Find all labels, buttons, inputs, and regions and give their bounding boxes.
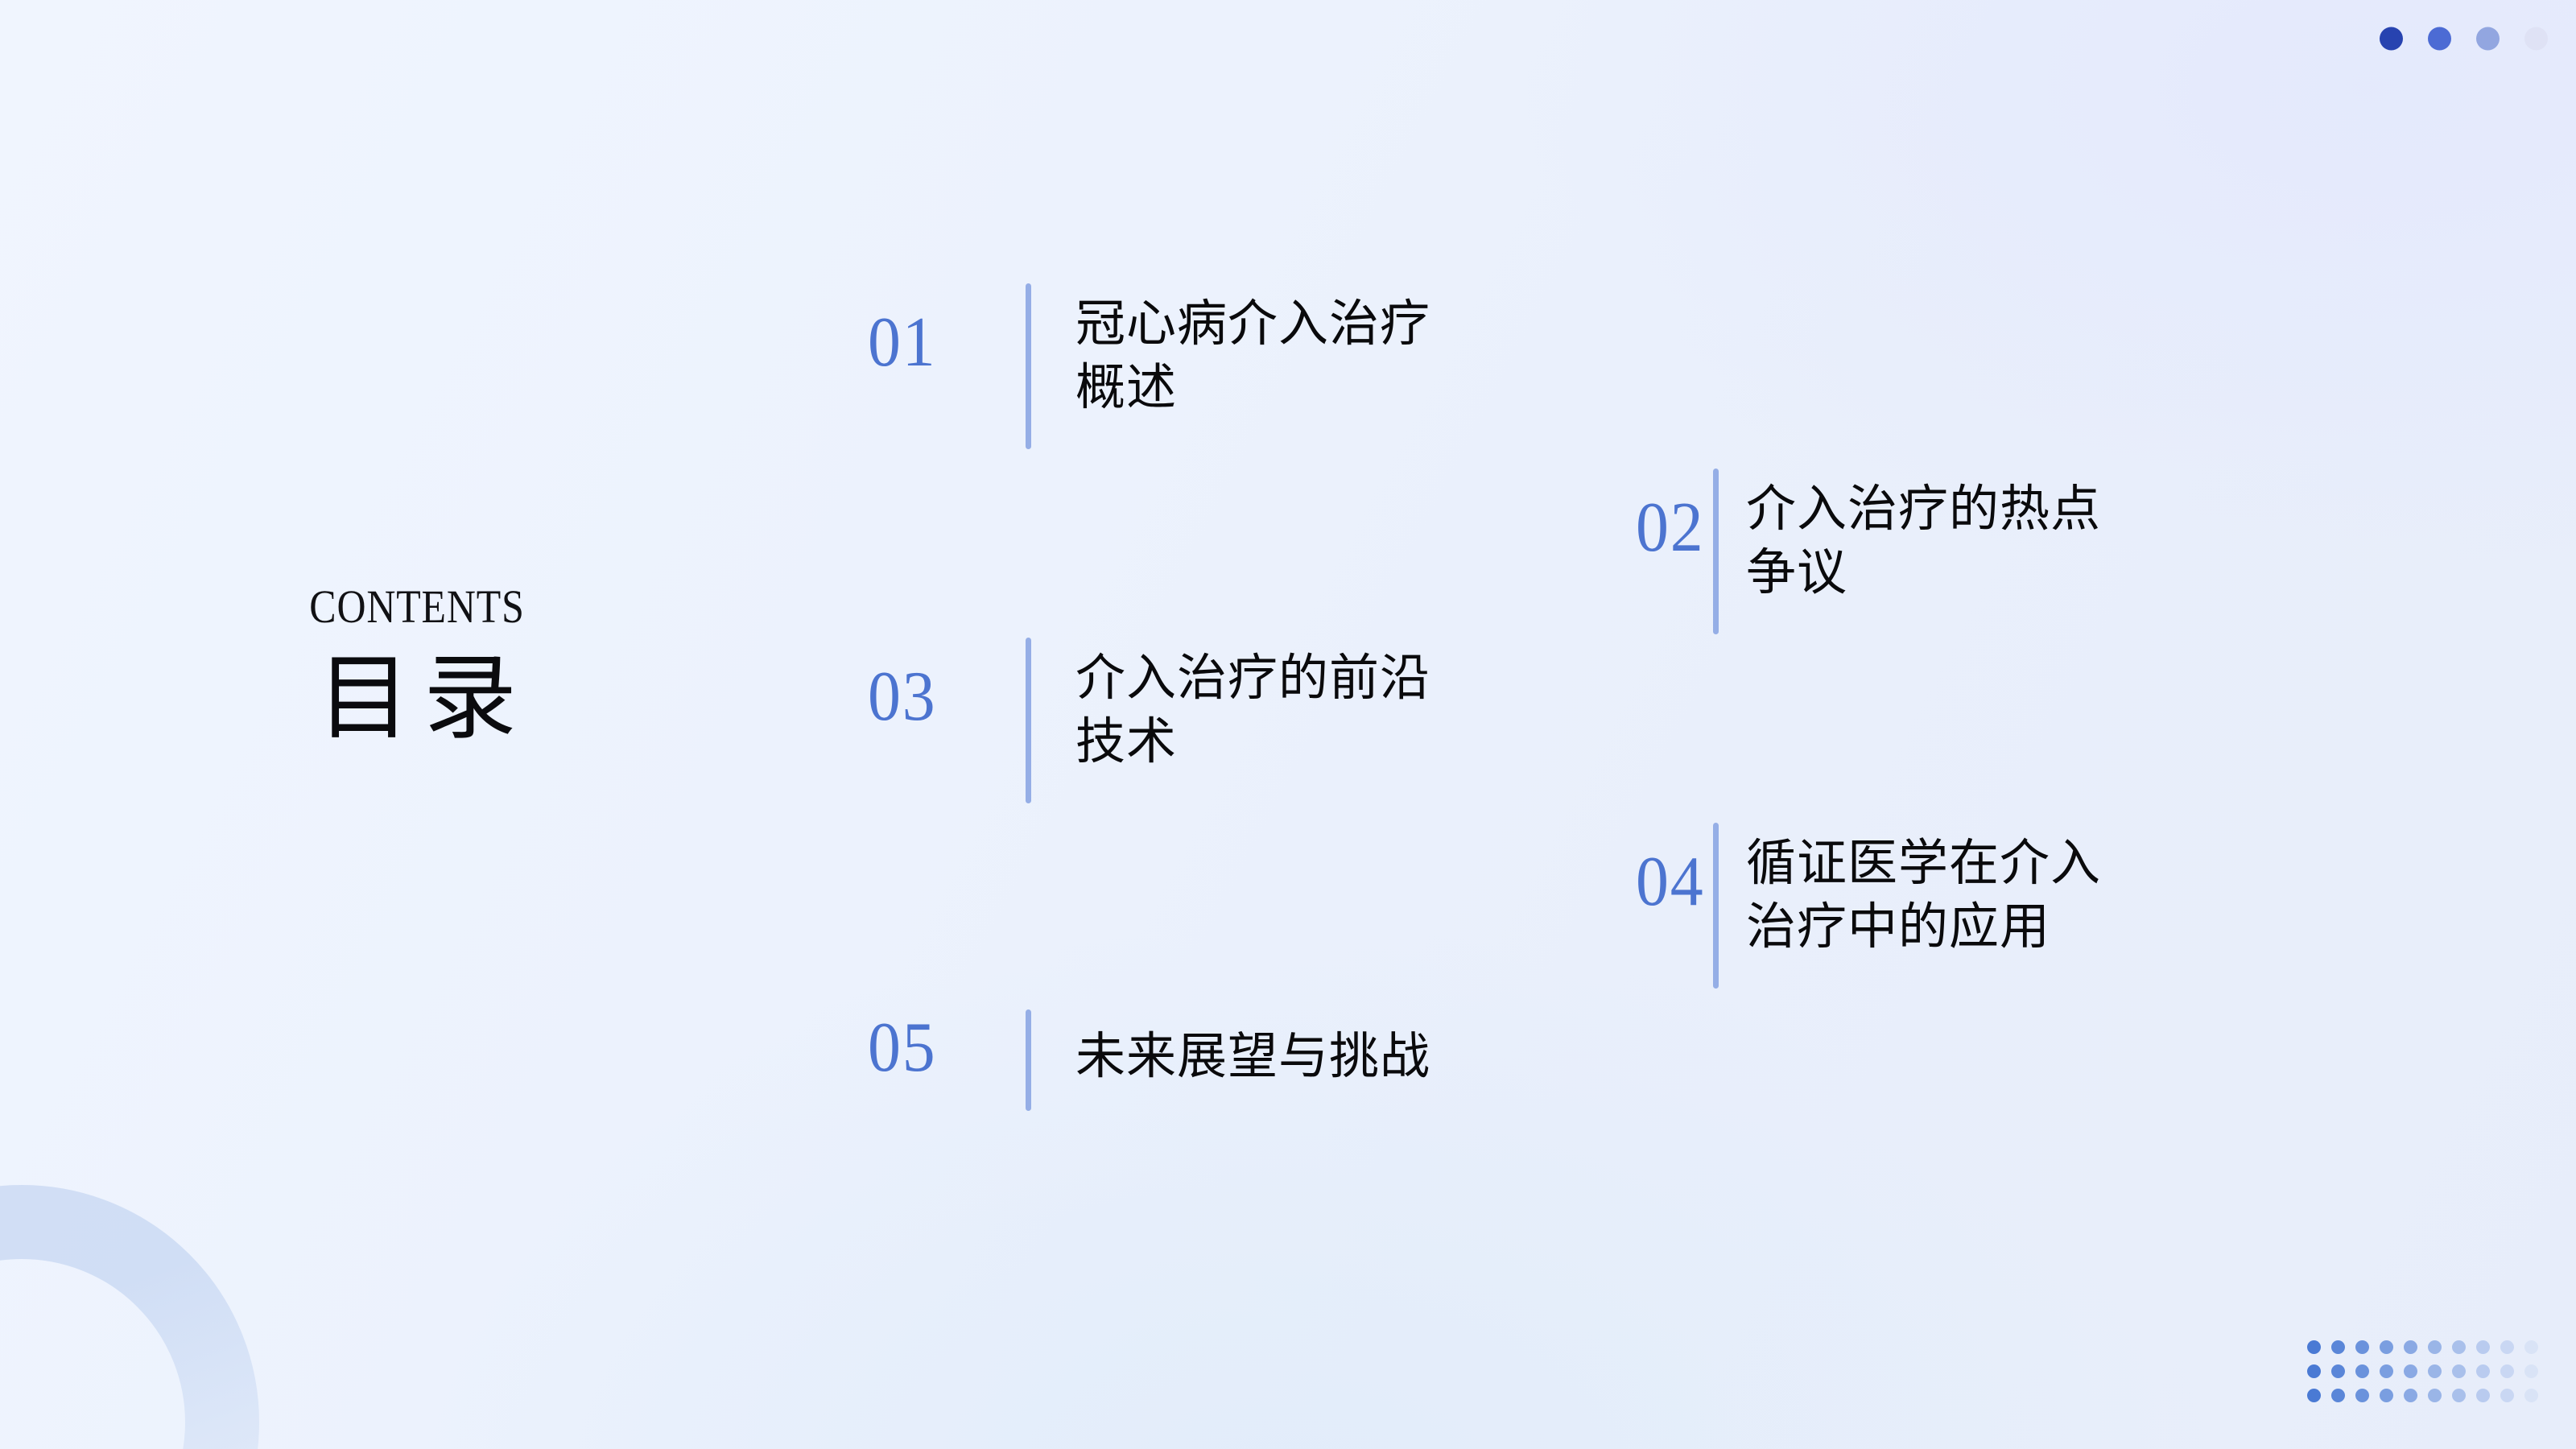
- top-right-dots-decoration: [2380, 27, 2548, 51]
- slide-canvas: CONTENTS 目录 01 冠心病介入治疗 概述 02 介入治疗的热点 争议 …: [0, 0, 2576, 1449]
- grid-dot-icon: [2404, 1340, 2417, 1354]
- grid-dot-icon: [2524, 1340, 2538, 1354]
- toc-item-02[interactable]: 02 介入治疗的热点 争议: [1636, 469, 2101, 634]
- grid-dot-icon: [2307, 1389, 2321, 1402]
- grid-dot-icon: [2452, 1389, 2466, 1402]
- toc-item-01-number: 01: [868, 308, 993, 378]
- toc-item-05-divider: [1026, 1009, 1031, 1111]
- toc-item-03-label: 介入治疗的前沿 技术: [1075, 647, 1430, 775]
- grid-dot-icon: [2380, 1389, 2393, 1402]
- grid-dot-icon: [2428, 1340, 2442, 1354]
- toc-item-02-label: 介入治疗的热点 争议: [1746, 478, 2101, 606]
- toc-item-04-label: 循证医学在介入 治疗中的应用: [1746, 832, 2101, 960]
- corner-ring-decoration: [0, 1185, 259, 1449]
- grid-dot-icon: [2476, 1340, 2490, 1354]
- grid-dot-icon: [2500, 1364, 2514, 1378]
- toc-item-05-label: 未来展望与挑战: [1075, 1026, 1430, 1089]
- grid-dot-icon: [2331, 1340, 2345, 1354]
- grid-dot-icon: [2524, 1364, 2538, 1378]
- toc-item-03-divider: [1026, 638, 1031, 803]
- grid-dot-icon: [2404, 1364, 2417, 1378]
- grid-dot-icon: [2331, 1364, 2345, 1378]
- dot-4-icon: [2524, 27, 2548, 51]
- grid-dot-icon: [2355, 1340, 2369, 1354]
- grid-dot-icon: [2428, 1389, 2442, 1402]
- toc-item-01-label: 冠心病介入治疗 概述: [1075, 293, 1430, 421]
- grid-dot-icon: [2307, 1364, 2321, 1378]
- toc-item-01[interactable]: 01 冠心病介入治疗 概述: [868, 283, 1430, 449]
- grid-dot-icon: [2380, 1340, 2393, 1354]
- toc-item-04-divider: [1713, 823, 1719, 989]
- dot-2-icon: [2428, 27, 2451, 51]
- grid-dot-icon: [2476, 1364, 2490, 1378]
- grid-dot-icon: [2428, 1364, 2442, 1378]
- toc-item-03[interactable]: 03 介入治疗的前沿 技术: [868, 638, 1430, 803]
- toc-item-02-divider: [1713, 469, 1719, 634]
- grid-dot-icon: [2500, 1340, 2514, 1354]
- page-title: CONTENTS 目录: [284, 584, 550, 753]
- dot-1-icon: [2380, 27, 2403, 51]
- toc-item-05-number: 05: [868, 1013, 993, 1084]
- toc-item-02-number: 02: [1636, 493, 1686, 563]
- grid-dot-icon: [2452, 1340, 2466, 1354]
- dot-3-icon: [2476, 27, 2500, 51]
- page-title-chinese: 目录: [284, 646, 550, 753]
- toc-item-01-divider: [1026, 283, 1031, 449]
- grid-dot-icon: [2380, 1364, 2393, 1378]
- bottom-right-dot-grid-decoration: [2307, 1340, 2549, 1413]
- grid-dot-icon: [2524, 1389, 2538, 1402]
- grid-dot-icon: [2404, 1389, 2417, 1402]
- toc-item-03-number: 03: [868, 662, 993, 733]
- grid-dot-icon: [2355, 1389, 2369, 1402]
- corner-ring-fade-overlay: [0, 1185, 259, 1449]
- grid-dot-icon: [2355, 1364, 2369, 1378]
- page-title-english: CONTENTS: [303, 584, 531, 630]
- grid-dot-icon: [2307, 1340, 2321, 1354]
- toc-item-04[interactable]: 04 循证医学在介入 治疗中的应用: [1636, 823, 2101, 989]
- grid-dot-icon: [2500, 1389, 2514, 1402]
- toc-item-05[interactable]: 05 未来展望与挑战: [868, 1008, 1430, 1111]
- grid-dot-icon: [2476, 1389, 2490, 1402]
- toc-item-04-number: 04: [1636, 847, 1686, 918]
- grid-dot-icon: [2452, 1364, 2466, 1378]
- grid-dot-icon: [2331, 1389, 2345, 1402]
